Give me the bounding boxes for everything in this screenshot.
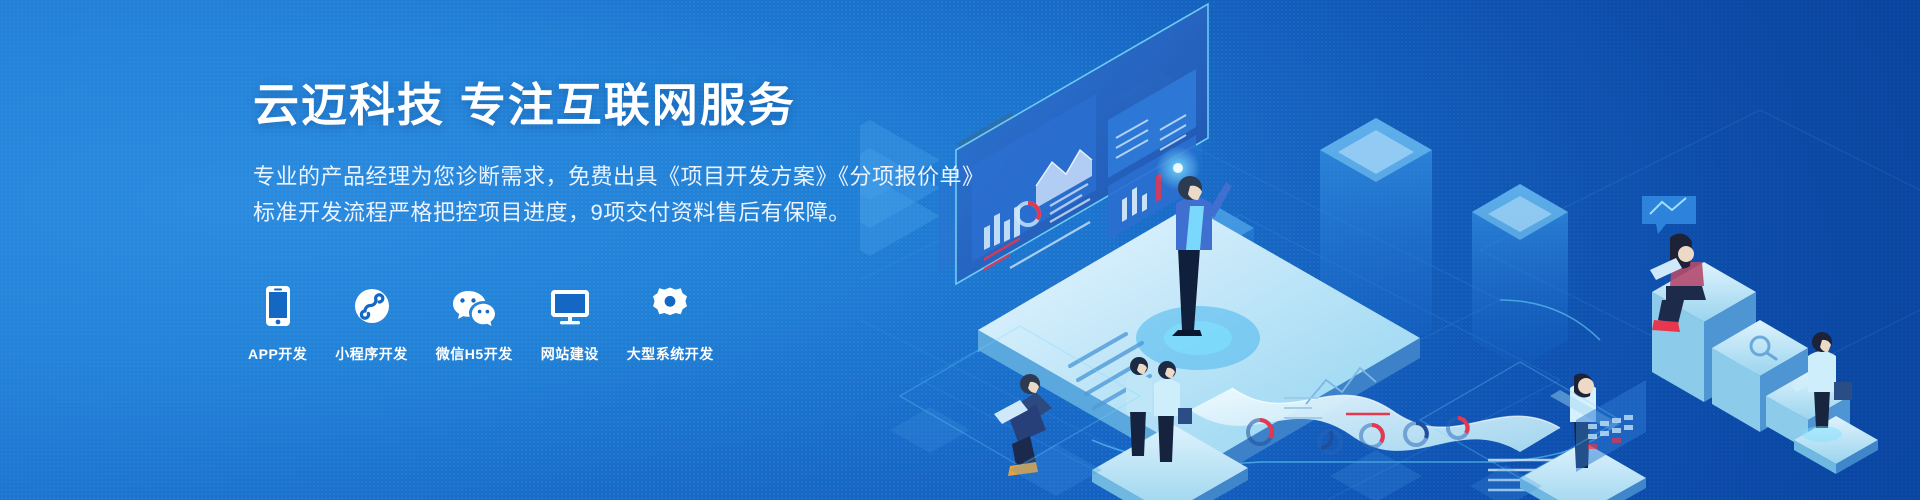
mini-program-icon	[352, 284, 392, 328]
service-label: 小程序开发	[335, 344, 408, 364]
subtitle-line-2: 标准开发流程严格把控项目进度，9项交付资料售后有保障。	[253, 195, 1113, 231]
hero-copy: 云迈科技 专注互联网服务 专业的产品经理为您诊断需求，免费出具《项目开发方案》《…	[253, 78, 1113, 230]
gear-icon	[649, 284, 691, 328]
isometric-illustration	[860, 0, 1920, 500]
page-title: 云迈科技 专注互联网服务	[253, 78, 1113, 133]
monitor-icon	[549, 284, 591, 328]
service-label: 大型系统开发	[627, 344, 714, 364]
service-item-app[interactable]: APP开发	[248, 284, 307, 364]
service-label: 微信H5开发	[436, 344, 513, 364]
hero-subtitle: 专业的产品经理为您诊断需求，免费出具《项目开发方案》《分项报价单》 标准开发流程…	[253, 159, 1113, 230]
service-item-website[interactable]: 网站建设	[541, 284, 599, 364]
service-label: 网站建设	[541, 344, 599, 364]
service-label: APP开发	[248, 344, 307, 364]
subtitle-line-1: 专业的产品经理为您诊断需求，免费出具《项目开发方案》《分项报价单》	[253, 159, 1113, 195]
wechat-icon	[451, 284, 497, 328]
mobile-phone-icon	[264, 284, 292, 328]
service-item-system[interactable]: 大型系统开发	[627, 284, 714, 364]
service-item-miniprogram[interactable]: 小程序开发	[335, 284, 408, 364]
service-list: APP开发 小程序开发	[248, 284, 714, 364]
service-item-wechat[interactable]: 微信H5开发	[436, 284, 513, 364]
hero-banner: 云迈科技 专注互联网服务 专业的产品经理为您诊断需求，免费出具《项目开发方案》《…	[0, 0, 1920, 500]
